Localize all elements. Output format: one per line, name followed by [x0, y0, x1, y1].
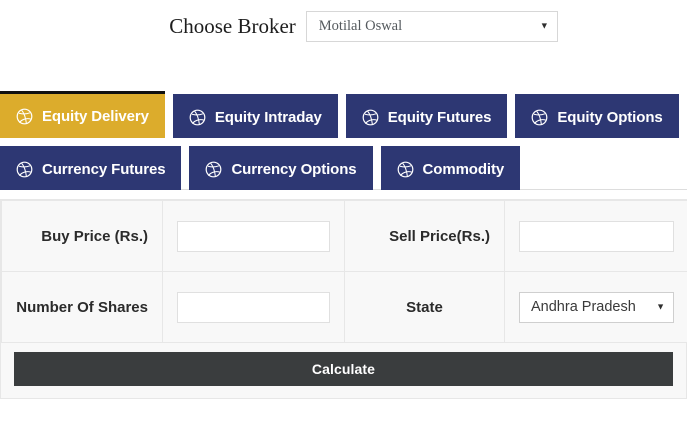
tab-equity-futures[interactable]: Equity Futures: [346, 94, 508, 138]
number-of-shares-input[interactable]: [177, 292, 330, 323]
calculate-button-wrapper: Calculate: [1, 343, 686, 398]
number-of-shares-input-cell: [163, 272, 345, 343]
broker-select-wrapper[interactable]: Motilal Oswal ▼: [306, 11, 558, 42]
buy-price-input-cell: [163, 201, 345, 272]
form-row-shares-state: Number Of Shares State Andhra Pradesh ▼: [2, 272, 687, 343]
tab-label: Currency Options: [231, 161, 356, 178]
calculate-button[interactable]: Calculate: [14, 352, 673, 386]
dribbble-circle-icon: [16, 161, 33, 178]
choose-broker-label: Choose Broker: [169, 14, 296, 39]
buy-price-label-cell: Buy Price (Rs.): [2, 201, 163, 272]
dribbble-circle-icon: [189, 109, 206, 126]
tab-label: Currency Futures: [42, 161, 165, 178]
form-row-prices: Buy Price (Rs.) Sell Price(Rs.): [2, 201, 687, 272]
form-fields-table: Buy Price (Rs.) Sell Price(Rs.): [1, 200, 687, 343]
dribbble-circle-icon: [16, 108, 33, 125]
buy-price-input[interactable]: [177, 221, 330, 252]
dribbble-circle-icon: [531, 109, 548, 126]
tab-label: Equity Options: [557, 109, 662, 126]
state-label: State: [406, 299, 443, 316]
state-select-cell: Andhra Pradesh ▼: [505, 272, 687, 343]
tab-row-secondary: Currency Futures Currency Options Commod…: [0, 144, 687, 190]
tab-equity-options[interactable]: Equity Options: [515, 94, 678, 138]
tab-row-primary: Equity Delivery Equity Intraday Equity F…: [0, 92, 687, 138]
tab-equity-intraday[interactable]: Equity Intraday: [173, 94, 338, 138]
brokerage-form-panel: Buy Price (Rs.) Sell Price(Rs.): [0, 199, 687, 399]
tabs-area: Equity Delivery Equity Intraday Equity F…: [0, 92, 687, 190]
buy-price-label: Buy Price (Rs.): [41, 228, 148, 245]
sell-price-input[interactable]: [519, 221, 674, 252]
tab-currency-options[interactable]: Currency Options: [189, 146, 372, 190]
number-of-shares-label-cell: Number Of Shares: [2, 272, 163, 343]
number-of-shares-label: Number Of Shares: [16, 299, 148, 316]
state-label-cell: State: [345, 272, 505, 343]
tab-label: Equity Intraday: [215, 109, 322, 126]
tab-currency-futures[interactable]: Currency Futures: [0, 146, 181, 190]
tab-equity-delivery[interactable]: Equity Delivery: [0, 91, 165, 138]
sell-price-label: Sell Price(Rs.): [389, 228, 490, 245]
state-select[interactable]: Andhra Pradesh: [519, 292, 674, 323]
tab-label: Equity Futures: [388, 109, 492, 126]
broker-select[interactable]: Motilal Oswal: [306, 11, 558, 42]
broker-header: Choose Broker Motilal Oswal ▼: [0, 0, 687, 52]
state-select-wrapper[interactable]: Andhra Pradesh ▼: [519, 292, 674, 323]
dribbble-circle-icon: [397, 161, 414, 178]
tab-label: Equity Delivery: [42, 108, 149, 125]
dribbble-circle-icon: [205, 161, 222, 178]
sell-price-input-cell: [505, 201, 687, 272]
sell-price-label-cell: Sell Price(Rs.): [345, 201, 505, 272]
tab-label: Commodity: [423, 161, 505, 178]
dribbble-circle-icon: [362, 109, 379, 126]
tab-commodity[interactable]: Commodity: [381, 146, 521, 190]
